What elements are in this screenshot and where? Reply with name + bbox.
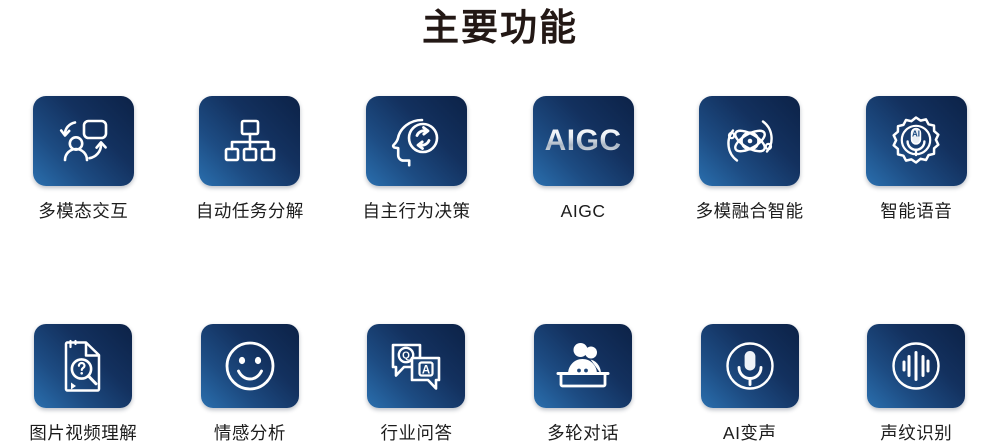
feature-tile[interactable] <box>201 324 299 408</box>
feature-label: 声纹识别 <box>880 422 952 444</box>
people-at-table-icon <box>554 341 612 391</box>
feature-tile[interactable] <box>34 324 132 408</box>
feature-tile[interactable]: AIGC <box>533 96 634 186</box>
feature-item-sentiment-analysis[interactable]: 情感分析 <box>167 324 334 444</box>
feature-tile[interactable] <box>199 96 300 186</box>
feature-item-task-decomposition[interactable]: 自动任务分解 <box>167 96 334 222</box>
page-title: 主要功能 <box>0 4 1000 52</box>
feature-grid: 多模态交互 自动任务分解 <box>0 96 1000 444</box>
aigc-text-icon: AIGC <box>545 124 622 158</box>
voiceprint-waveform-circle-icon <box>891 341 941 391</box>
feature-item-voiceprint-recognition[interactable]: 声纹识别 <box>833 324 1000 444</box>
feature-label: 自主行为决策 <box>362 200 470 222</box>
feature-tile[interactable] <box>701 324 799 408</box>
feature-label: AIGC <box>561 200 606 222</box>
feature-label: 行业问答 <box>380 422 452 444</box>
smiley-face-icon <box>224 340 276 392</box>
feature-label: 多模融合智能 <box>696 200 804 222</box>
qa-bubble-q-label: Q <box>403 351 411 362</box>
feature-label: 情感分析 <box>214 422 286 444</box>
feature-row-2: 图片视频理解 情感分析 <box>0 324 1000 444</box>
microphone-circle-icon <box>725 341 775 391</box>
feature-row-1: 多模态交互 自动任务分解 <box>0 96 1000 222</box>
feature-item-intelligent-voice[interactable]: AI 智能语音 <box>833 96 1000 222</box>
feature-item-image-video-understanding[interactable]: 图片视频理解 <box>0 324 167 444</box>
feature-tile[interactable] <box>366 96 467 186</box>
main-features-panel: 主要功能 多模态交互 <box>0 0 1000 447</box>
gear-microphone-ai-icon: AI <box>889 114 943 168</box>
feature-item-ai-voice-change[interactable]: AI变声 <box>666 324 833 444</box>
feature-item-aigc[interactable]: AIGC AIGC <box>500 96 667 222</box>
feature-item-autonomous-decision[interactable]: 自主行为决策 <box>333 96 500 222</box>
atom-fusion-icon <box>722 114 778 168</box>
feature-label: 多模态交互 <box>38 200 128 222</box>
feature-label: AI变声 <box>723 422 777 444</box>
feature-tile[interactable]: AI <box>866 96 967 186</box>
feature-label: 图片视频理解 <box>29 422 137 444</box>
feature-tile[interactable] <box>699 96 800 186</box>
qa-speech-bubbles-icon: Q A <box>388 340 444 392</box>
feature-tile[interactable] <box>33 96 134 186</box>
feature-label: 多轮对话 <box>547 422 619 444</box>
gear-mic-ai-label: AI <box>912 129 920 138</box>
feature-item-industry-qa[interactable]: Q A 行业问答 <box>333 324 500 444</box>
feature-label: 智能语音 <box>880 200 952 222</box>
qa-bubble-a-label: A <box>422 364 430 376</box>
feature-label: 自动任务分解 <box>196 200 304 222</box>
task-decomposition-hierarchy-icon <box>224 117 276 165</box>
feature-tile[interactable] <box>534 324 632 408</box>
feature-item-multi-turn-dialogue[interactable]: 多轮对话 <box>500 324 667 444</box>
feature-tile[interactable]: Q A <box>367 324 465 408</box>
feature-tile[interactable] <box>867 324 965 408</box>
document-magnifier-question-icon <box>60 339 106 393</box>
feature-item-multimodal-interaction[interactable]: 多模态交互 <box>0 96 167 222</box>
head-refresh-decision-icon <box>389 115 443 167</box>
multimodal-interaction-icon <box>55 116 111 166</box>
feature-item-multimodal-fusion[interactable]: 多模融合智能 <box>666 96 833 222</box>
